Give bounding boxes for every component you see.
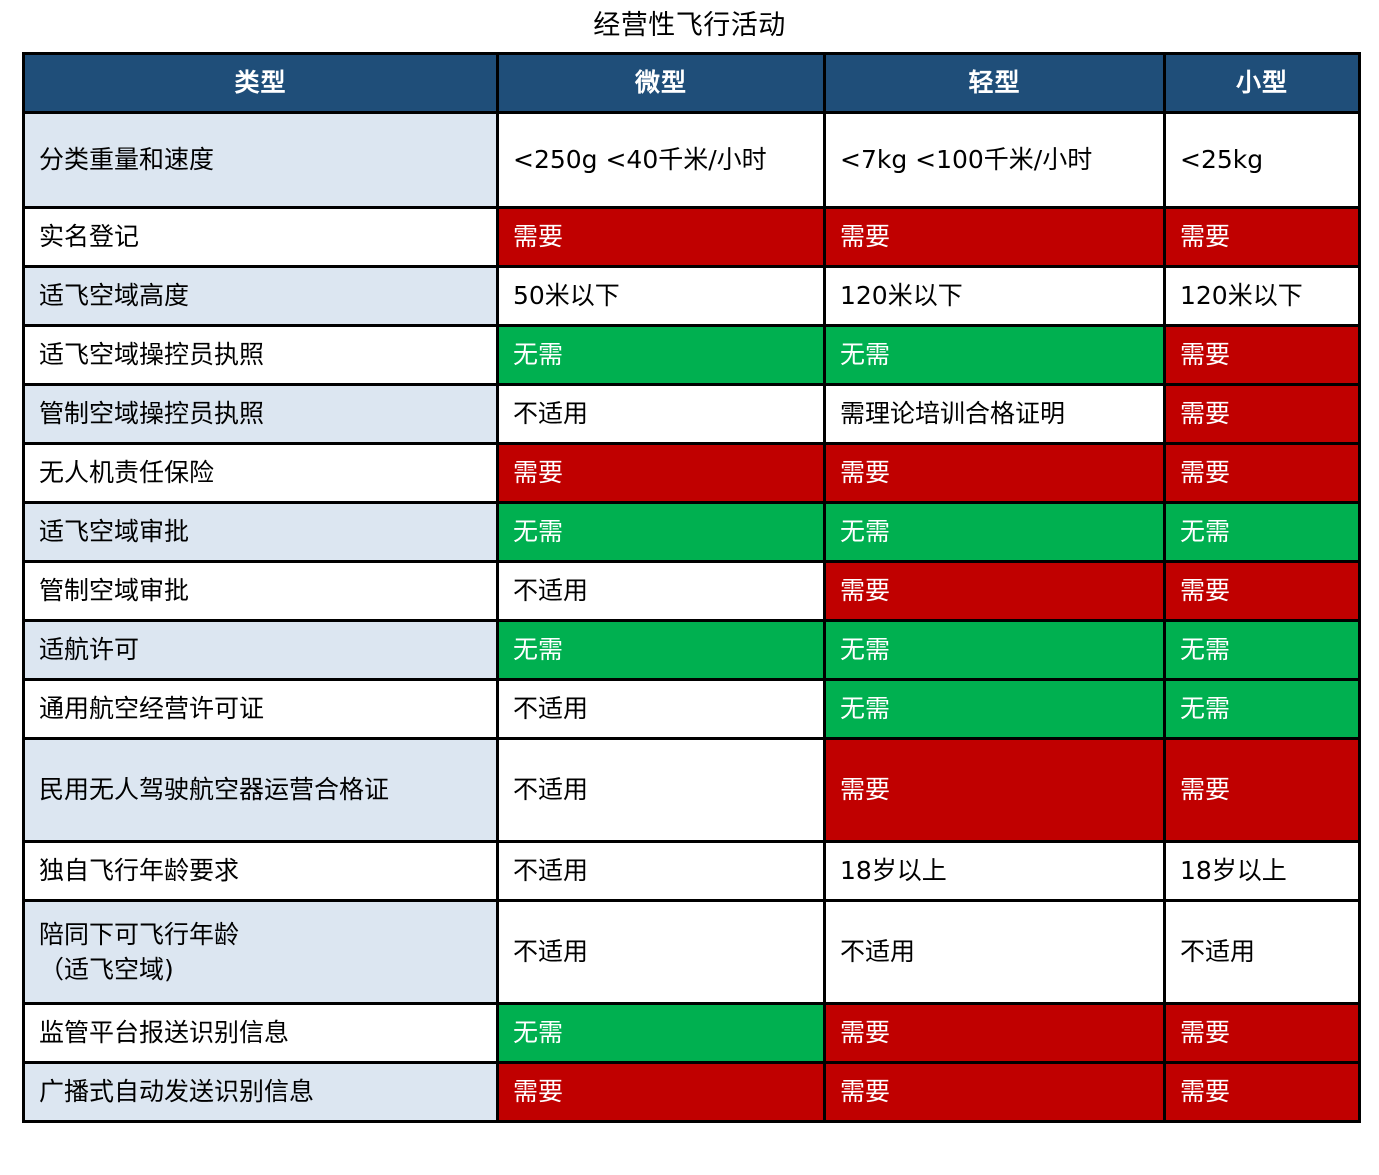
table-row: 适飞空域高度50米以下120米以下120米以下: [24, 267, 1360, 326]
cell-small: <25kg: [1165, 113, 1360, 208]
cell-micro: 需要: [498, 208, 825, 267]
table-row: 适飞空域操控员执照无需无需需要: [24, 326, 1360, 385]
cell-small: 无需: [1165, 621, 1360, 680]
column-header-micro: 微型: [498, 54, 825, 113]
table-header: 类型 微型 轻型 小型: [24, 54, 1360, 113]
cell-micro: 不适用: [498, 385, 825, 444]
cell-small: 需要: [1165, 208, 1360, 267]
column-header-small: 小型: [1165, 54, 1360, 113]
table-row: 管制空域审批不适用需要需要: [24, 562, 1360, 621]
cell-micro: 无需: [498, 503, 825, 562]
row-label: 民用无人驾驶航空器运营合格证: [24, 739, 498, 842]
row-label: 陪同下可飞行年龄 （适飞空域): [24, 901, 498, 1004]
cell-light: 需要: [825, 444, 1165, 503]
cell-micro: 不适用: [498, 901, 825, 1004]
cell-light: 需要: [825, 1063, 1165, 1122]
table-row: 通用航空经营许可证不适用无需无需: [24, 680, 1360, 739]
cell-light: 需要: [825, 208, 1165, 267]
cell-micro: 不适用: [498, 842, 825, 901]
cell-light: 需要: [825, 562, 1165, 621]
table-row: 实名登记需要需要需要: [24, 208, 1360, 267]
table-row: 适航许可无需无需无需: [24, 621, 1360, 680]
row-label: 广播式自动发送识别信息: [24, 1063, 498, 1122]
cell-small: 需要: [1165, 1063, 1360, 1122]
cell-light: 不适用: [825, 901, 1165, 1004]
row-label: 无人机责任保险: [24, 444, 498, 503]
table-row: 独自飞行年龄要求不适用18岁以上18岁以上: [24, 842, 1360, 901]
table-row: 陪同下可飞行年龄 （适飞空域)不适用不适用不适用: [24, 901, 1360, 1004]
cell-small: 无需: [1165, 503, 1360, 562]
cell-light: 无需: [825, 680, 1165, 739]
row-label: 管制空域审批: [24, 562, 498, 621]
cell-micro: 50米以下: [498, 267, 825, 326]
cell-small: 需要: [1165, 326, 1360, 385]
column-header-type: 类型: [24, 54, 498, 113]
cell-small: 需要: [1165, 739, 1360, 842]
cell-micro: 不适用: [498, 680, 825, 739]
cell-small: 不适用: [1165, 901, 1360, 1004]
table-row: 监管平台报送识别信息无需需要需要: [24, 1004, 1360, 1063]
cell-small: 18岁以上: [1165, 842, 1360, 901]
cell-micro: 需要: [498, 1063, 825, 1122]
cell-light: <7kg <100千米/小时: [825, 113, 1165, 208]
table-row: 民用无人驾驶航空器运营合格证不适用需要需要: [24, 739, 1360, 842]
table-row: 广播式自动发送识别信息需要需要需要: [24, 1063, 1360, 1122]
table-body: 分类重量和速度<250g <40千米/小时<7kg <100千米/小时<25kg…: [24, 113, 1360, 1122]
cell-micro: 无需: [498, 621, 825, 680]
cell-micro: 无需: [498, 1004, 825, 1063]
cell-small: 无需: [1165, 680, 1360, 739]
cell-micro: 不适用: [498, 562, 825, 621]
cell-light: 需要: [825, 739, 1165, 842]
cell-micro: 不适用: [498, 739, 825, 842]
column-header-light: 轻型: [825, 54, 1165, 113]
table-row: 分类重量和速度<250g <40千米/小时<7kg <100千米/小时<25kg: [24, 113, 1360, 208]
cell-light: 120米以下: [825, 267, 1165, 326]
cell-small: 需要: [1165, 1004, 1360, 1063]
cell-small: 120米以下: [1165, 267, 1360, 326]
cell-light: 18岁以上: [825, 842, 1165, 901]
cell-light: 无需: [825, 621, 1165, 680]
table-row: 适飞空域审批无需无需无需: [24, 503, 1360, 562]
row-label: 监管平台报送识别信息: [24, 1004, 498, 1063]
row-label: 管制空域操控员执照: [24, 385, 498, 444]
row-label: 适飞空域操控员执照: [24, 326, 498, 385]
table-header-row: 类型 微型 轻型 小型: [24, 54, 1360, 113]
row-label: 通用航空经营许可证: [24, 680, 498, 739]
row-label: 实名登记: [24, 208, 498, 267]
cell-light: 需理论培训合格证明: [825, 385, 1165, 444]
cell-light: 需要: [825, 1004, 1165, 1063]
drone-category-comparison-table: 类型 微型 轻型 小型 分类重量和速度<250g <40千米/小时<7kg <1…: [22, 52, 1361, 1123]
cell-small: 需要: [1165, 562, 1360, 621]
page-title: 经营性飞行活动: [0, 0, 1379, 52]
page-root: 经营性飞行活动 类型 微型 轻型 小型 分类重量和速度<250g <40千米/小…: [0, 0, 1379, 1175]
cell-micro: 无需: [498, 326, 825, 385]
cell-light: 无需: [825, 326, 1165, 385]
row-label: 分类重量和速度: [24, 113, 498, 208]
cell-micro: <250g <40千米/小时: [498, 113, 825, 208]
table-row: 无人机责任保险需要需要需要: [24, 444, 1360, 503]
row-label: 适航许可: [24, 621, 498, 680]
row-label: 适飞空域审批: [24, 503, 498, 562]
row-label: 独自飞行年龄要求: [24, 842, 498, 901]
row-label: 适飞空域高度: [24, 267, 498, 326]
table-row: 管制空域操控员执照不适用需理论培训合格证明需要: [24, 385, 1360, 444]
cell-small: 需要: [1165, 444, 1360, 503]
cell-micro: 需要: [498, 444, 825, 503]
cell-light: 无需: [825, 503, 1165, 562]
comparison-table-wrapper: 类型 微型 轻型 小型 分类重量和速度<250g <40千米/小时<7kg <1…: [22, 52, 1358, 1123]
cell-small: 需要: [1165, 385, 1360, 444]
